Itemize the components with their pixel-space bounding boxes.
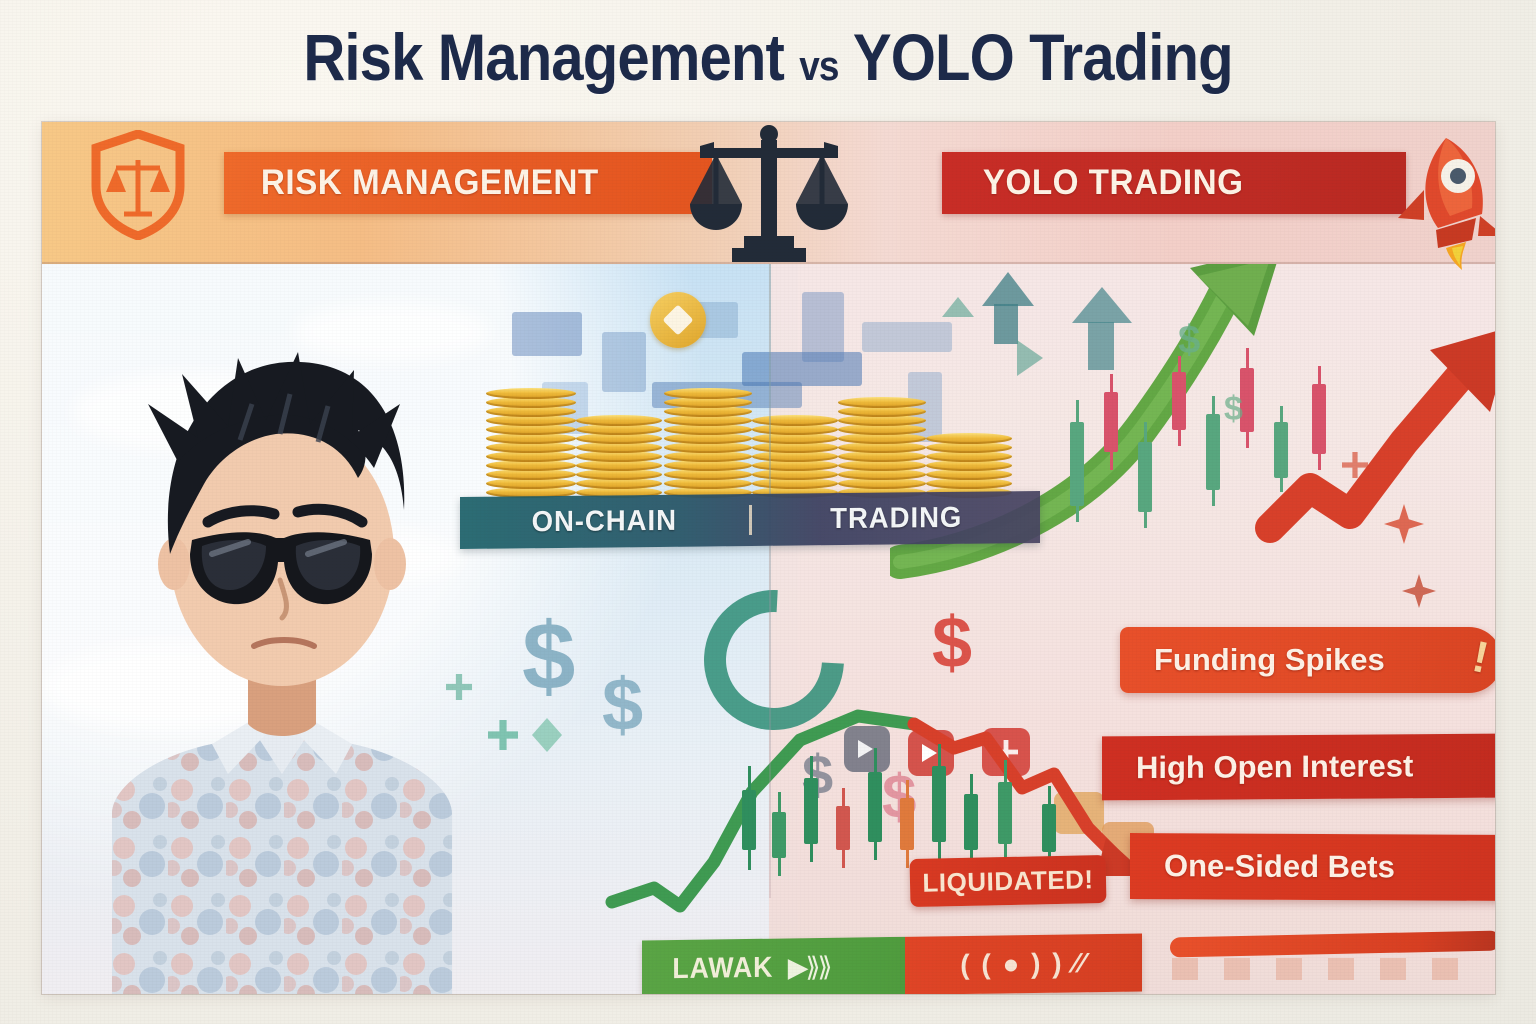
title-vs: vs xyxy=(799,42,838,89)
on-chain-label: ON-CHAIN xyxy=(467,504,741,540)
lawak-label: LAWAK xyxy=(672,951,773,985)
title-part-2: YOLO Trading xyxy=(853,20,1233,94)
lawak-red-label: ( ( ● ) ) ⁄⁄ xyxy=(960,947,1086,981)
lawak-progress-bar[interactable]: LAWAK ▶⟫⟫ ( ( ● ) ) ⁄⁄ xyxy=(642,934,1142,994)
exclamation-icon: ! xyxy=(1468,632,1493,684)
trading-label: TRADING xyxy=(759,501,1033,537)
chip-funding-spikes-label: Funding Spikes xyxy=(1154,642,1385,678)
shield-scales-icon xyxy=(90,130,186,240)
lawak-green-segment: LAWAK ▶⟫⟫ xyxy=(642,937,905,994)
balance-scales-icon xyxy=(684,122,854,268)
title-part-1: Risk Management xyxy=(303,20,784,94)
chip-one-sided-bets[interactable]: One-Sided Bets xyxy=(1130,833,1495,901)
chip-funding-spikes[interactable]: Funding Spikes ! xyxy=(1120,627,1495,693)
chip-high-open-interest-label: High Open Interest xyxy=(1136,748,1413,786)
risk-management-banner[interactable]: RISK MANAGEMENT xyxy=(224,152,712,214)
risk-management-label: RISK MANAGEMENT xyxy=(261,163,599,203)
yolo-trading-label: YOLO TRADING xyxy=(983,163,1244,203)
yolo-trading-banner[interactable]: YOLO TRADING xyxy=(942,152,1406,214)
anime-trader-character xyxy=(52,254,572,994)
chip-one-sided-bets-label: One-Sided Bets xyxy=(1164,848,1395,885)
on-chain-trading-band: ON-CHAIN TRADING xyxy=(460,491,1040,549)
center-divider xyxy=(769,254,771,898)
rocket-icon xyxy=(1380,132,1495,272)
infographic-poster: Risk Management vs YOLO Trading xyxy=(0,0,1536,1024)
poster-panel: $ $ xyxy=(42,122,1495,994)
poster-header-strip: RISK MANAGEMENT YOLO TRADING xyxy=(42,122,1495,264)
liquidated-badge: LIQUIDATED! xyxy=(910,855,1107,907)
liquidated-label: LIQUIDATED! xyxy=(922,864,1094,899)
band-separator xyxy=(749,505,752,535)
chevron-right-icon: ▶⟫⟫ xyxy=(788,951,830,983)
chip-high-open-interest[interactable]: High Open Interest xyxy=(1102,734,1495,801)
page-title: Risk Management vs YOLO Trading xyxy=(0,14,1536,100)
lawak-red-segment: ( ( ● ) ) ⁄⁄ xyxy=(905,934,1142,994)
